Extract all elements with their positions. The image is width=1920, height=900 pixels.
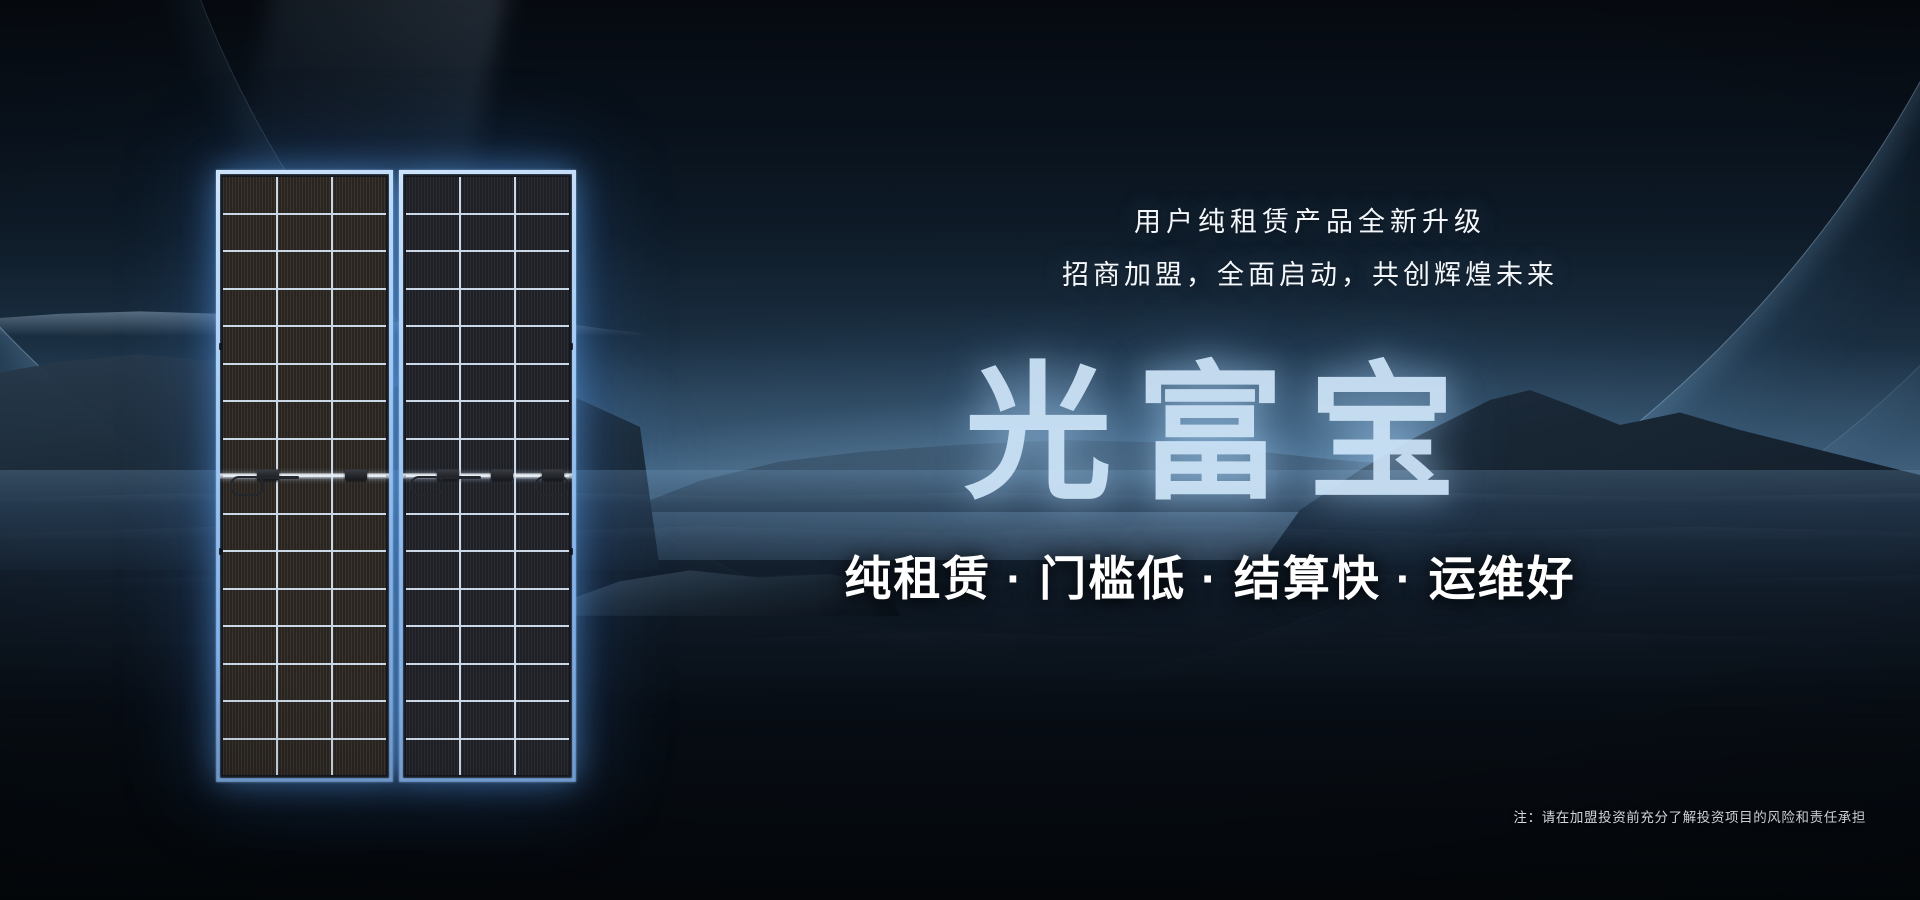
solar-cell: [516, 627, 569, 663]
solar-cell: [278, 215, 331, 251]
solar-cell: [278, 440, 331, 476]
solar-cell: [516, 515, 569, 551]
solar-module-right: [399, 170, 576, 782]
solar-cell: [406, 515, 459, 551]
solar-cell: [333, 290, 386, 326]
solar-panel-image: [216, 170, 576, 782]
frame-mount-hole: [219, 548, 222, 555]
solar-cell: [333, 477, 386, 513]
panel-cable: [437, 476, 481, 479]
solar-cell: [223, 365, 276, 401]
solar-cell: [406, 702, 459, 738]
solar-cell: [461, 402, 514, 438]
solar-cell: [516, 552, 569, 588]
brand-title: 光富宝: [830, 352, 1590, 518]
solar-cell: [333, 177, 386, 213]
solar-cell: [461, 215, 514, 251]
solar-cell: [461, 327, 514, 363]
solar-cell: [516, 590, 569, 626]
solar-cell: [278, 177, 331, 213]
solar-cell: [516, 402, 569, 438]
solar-cell: [223, 402, 276, 438]
solar-cell: [278, 365, 331, 401]
solar-cell: [516, 327, 569, 363]
solar-cell: [223, 177, 276, 213]
solar-cell: [333, 252, 386, 288]
solar-cell: [278, 590, 331, 626]
solar-cell: [406, 590, 459, 626]
panel-cable: [410, 476, 444, 496]
solar-cell: [461, 702, 514, 738]
solar-cell: [461, 515, 514, 551]
solar-cell: [223, 327, 276, 363]
solar-cell: [461, 177, 514, 213]
solar-cell: [278, 627, 331, 663]
solar-module-left: [216, 170, 393, 782]
solar-cell: [223, 552, 276, 588]
solar-cell: [223, 627, 276, 663]
frame-mount-hole: [570, 343, 573, 350]
solar-cell: [406, 627, 459, 663]
solar-cell: [333, 365, 386, 401]
solar-cell: [223, 740, 276, 776]
solar-cell: [406, 177, 459, 213]
solar-cell: [461, 252, 514, 288]
solar-cell: [406, 365, 459, 401]
solar-cell: [278, 477, 331, 513]
solar-cell: [516, 740, 569, 776]
solar-cell: [516, 702, 569, 738]
panel-cable: [257, 476, 299, 479]
solar-cell: [278, 515, 331, 551]
solar-cell: [278, 702, 331, 738]
solar-cell: [406, 552, 459, 588]
solar-cell: [333, 627, 386, 663]
solar-cell: [516, 177, 569, 213]
junction-box: [345, 469, 367, 480]
solar-cell: [516, 665, 569, 701]
tagline: 纯租赁 · 门槛低 · 结算快 · 运维好: [600, 540, 1820, 609]
solar-cell: [406, 252, 459, 288]
solar-cell: [333, 740, 386, 776]
headline-secondary: 招商加盟，全面启动，共创辉煌未来: [930, 249, 1690, 302]
solar-cell: [278, 252, 331, 288]
solar-cell: [278, 402, 331, 438]
solar-cell: [223, 702, 276, 738]
solar-cell: [278, 290, 331, 326]
solar-cell: [461, 552, 514, 588]
solar-cell: [516, 365, 569, 401]
panel-cable: [535, 476, 569, 496]
solar-cell: [223, 252, 276, 288]
headline-block: 用户纯租赁产品全新升级 招商加盟，全面启动，共创辉煌未来: [930, 196, 1690, 301]
solar-cell: [406, 665, 459, 701]
solar-cell: [461, 365, 514, 401]
panel-cable: [230, 476, 264, 496]
solar-cell: [516, 290, 569, 326]
solar-cell: [461, 665, 514, 701]
solar-cell: [278, 327, 331, 363]
solar-cell: [461, 740, 514, 776]
headline-primary: 用户纯租赁产品全新升级: [930, 196, 1690, 249]
solar-cell: [223, 590, 276, 626]
solar-cell: [278, 665, 331, 701]
solar-cell: [333, 402, 386, 438]
solar-cell: [223, 215, 276, 251]
solar-cell: [461, 627, 514, 663]
solar-cell: [461, 290, 514, 326]
solar-cell: [223, 515, 276, 551]
disclaimer-note: 注：请在加盟投资前充分了解投资项目的风险和责任承担: [1514, 806, 1867, 826]
frame-mount-hole: [219, 343, 222, 350]
solar-cell: [223, 665, 276, 701]
solar-cell: [516, 215, 569, 251]
solar-cell: [406, 215, 459, 251]
solar-cell: [223, 290, 276, 326]
solar-cell: [406, 290, 459, 326]
solar-cell: [333, 515, 386, 551]
solar-cell: [406, 327, 459, 363]
solar-cell: [333, 590, 386, 626]
solar-cell: [333, 327, 386, 363]
junction-box: [491, 469, 513, 480]
solar-cell: [278, 552, 331, 588]
solar-cell: [406, 402, 459, 438]
promo-banner: 用户纯租赁产品全新升级 招商加盟，全面启动，共创辉煌未来 光富宝 纯租赁 · 门…: [0, 0, 1920, 900]
solar-cell: [516, 252, 569, 288]
solar-cell: [461, 477, 514, 513]
solar-cell: [333, 702, 386, 738]
solar-cell: [406, 740, 459, 776]
solar-cell: [333, 215, 386, 251]
solar-cell: [278, 740, 331, 776]
solar-cell: [333, 665, 386, 701]
solar-cell: [333, 552, 386, 588]
solar-cell: [461, 590, 514, 626]
frame-mount-hole: [570, 548, 573, 555]
